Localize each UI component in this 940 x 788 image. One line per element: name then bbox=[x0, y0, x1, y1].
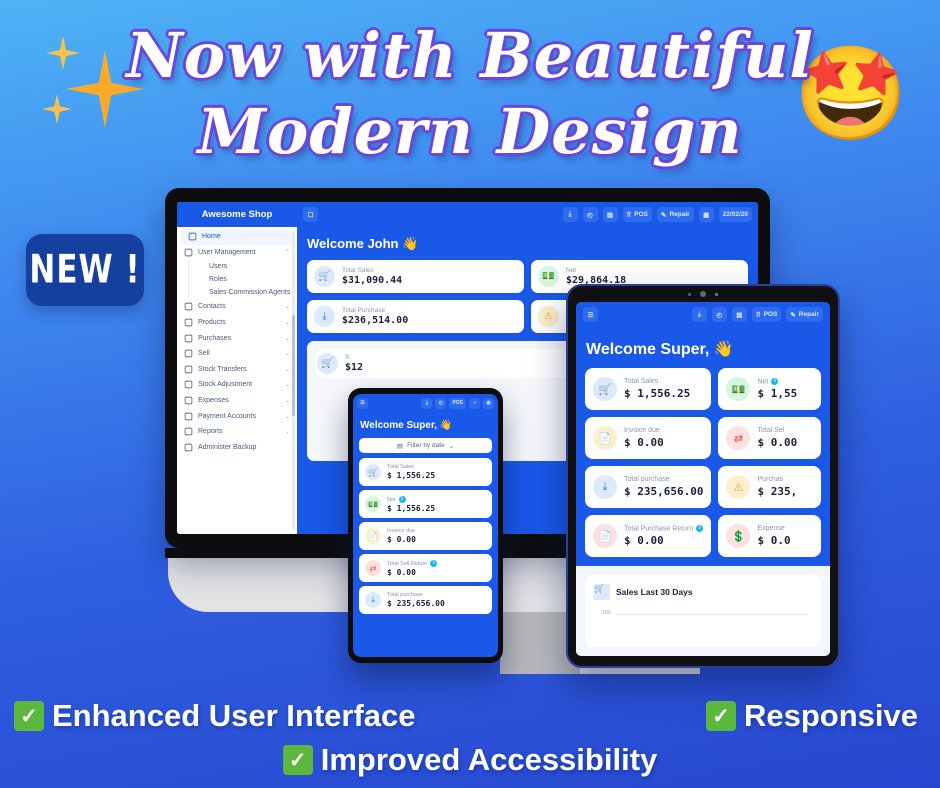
pos-button[interactable]: ⠿ POS bbox=[752, 307, 782, 322]
feature-list: ✓ Enhanced User Interface ✓ Responsive ✓… bbox=[0, 698, 940, 778]
card-label: Total Sales bbox=[342, 267, 402, 274]
card-label: S bbox=[345, 354, 363, 361]
stat-card[interactable]: ⤓Total purchase$ 235,656.00 bbox=[359, 586, 492, 614]
chevron-down-icon: ⌄ bbox=[285, 397, 290, 404]
bell-icon[interactable]: ◑ bbox=[469, 398, 480, 409]
money-icon: 💵 bbox=[538, 266, 559, 287]
pos-button[interactable]: ⠿ POS bbox=[623, 207, 653, 222]
info-icon[interactable]: i bbox=[399, 496, 406, 503]
card-value: $ 1,556.25 bbox=[387, 504, 435, 513]
stat-card[interactable]: 🛒Total Sales$ 1,556.25 bbox=[359, 458, 492, 486]
user-avatar-icon[interactable]: ◍ bbox=[483, 398, 494, 409]
sidebar-item-sell[interactable]: Sell⌄ bbox=[177, 346, 297, 362]
sales-chart-card: 🛒 Sales Last 30 Days 10k bbox=[585, 575, 821, 647]
stat-card[interactable]: ⤓Total Purchase$236,514.00 bbox=[307, 300, 524, 333]
new-badge: NEW ! bbox=[26, 234, 144, 306]
cart-icon: 🛒 bbox=[594, 584, 610, 600]
stat-icon: 📄 bbox=[593, 524, 617, 548]
chevron-up-icon: ⌃ bbox=[285, 249, 290, 256]
card-value: $ 0.00 bbox=[387, 568, 437, 577]
home-icon bbox=[188, 232, 197, 241]
feature-label: Enhanced User Interface bbox=[52, 698, 416, 734]
chevron-down-icon: ⌄ bbox=[285, 319, 290, 326]
tablet-welcome-heading: Welcome Super, 👋 bbox=[576, 327, 830, 368]
sidebar-item-payment-accounts[interactable]: Payment Accounts⌄ bbox=[177, 408, 297, 424]
star-struck-emoji-icon: 🤩 bbox=[793, 48, 908, 140]
card-label: Total Purchase bbox=[342, 307, 408, 314]
repair-button[interactable]: ✎ Repair bbox=[786, 307, 823, 322]
card-label: Invoice due bbox=[387, 528, 416, 534]
sidebar-item-reports[interactable]: Reports⌄ bbox=[177, 424, 297, 440]
tablet-camera-dots bbox=[568, 291, 838, 297]
sidebar-item-label: Stock Transfers bbox=[198, 366, 247, 373]
sidebar-item-contacts[interactable]: Contacts⌄ bbox=[177, 299, 297, 315]
sales-chart-title: Sales Last 30 Days bbox=[616, 587, 693, 597]
card-label: Net bbox=[566, 267, 626, 274]
sparkles-icon bbox=[28, 32, 158, 152]
sidebar-item-label: User Management bbox=[198, 249, 256, 256]
sidebar-item-label: Purchases bbox=[198, 335, 231, 342]
stat-card[interactable]: 💲Expense$ 0.0 bbox=[718, 515, 821, 557]
desktop-toolbar: ☐ ⤓ ◴ ▤ ⠿ POS ✎ Repair ▣ 22/02/20 bbox=[297, 202, 758, 227]
card-value: $31,090.44 bbox=[342, 275, 402, 286]
sidebar-subitem-roles[interactable]: Roles bbox=[188, 273, 297, 286]
card-value: $ 0.00 bbox=[624, 436, 664, 449]
card-label: Total Sell Returni bbox=[387, 560, 437, 567]
tablet-toolbar: ☰ ⤓ ◴ ▤ ⠿ POS ✎ Repair bbox=[576, 302, 830, 327]
clock-icon[interactable]: ◴ bbox=[435, 398, 446, 409]
sidebar-item-label: Products bbox=[198, 319, 226, 326]
purchase-icon bbox=[184, 334, 193, 343]
card-label: Total Sales bbox=[624, 378, 690, 385]
info-icon[interactable]: i bbox=[771, 378, 778, 385]
chevron-down-icon: ⌄ bbox=[285, 335, 290, 342]
calculator-icon[interactable]: ▤ bbox=[603, 207, 618, 222]
stat-card[interactable]: 💵Neti$ 1,556.25 bbox=[359, 490, 492, 518]
camera-sensor-icon bbox=[715, 293, 718, 296]
card-label: Invoice due bbox=[624, 427, 664, 434]
sidebar-item-label: Home bbox=[202, 233, 221, 240]
phone-welcome-heading: Welcome Super, 👋 bbox=[353, 412, 498, 438]
chevron-down-icon: ⌄ bbox=[285, 428, 290, 435]
calculator-icon[interactable]: ▤ bbox=[732, 307, 747, 322]
clock-icon[interactable]: ◴ bbox=[583, 207, 598, 222]
stat-card[interactable]: 📄Invoice due$ 0.00 bbox=[359, 522, 492, 550]
card-label: Total Sel bbox=[757, 427, 797, 434]
download-icon[interactable]: ⤓ bbox=[421, 398, 432, 409]
chevron-down-icon: ⌄ bbox=[285, 413, 290, 420]
check-icon: ✓ bbox=[706, 701, 736, 731]
card-value: $ 0.00 bbox=[757, 436, 797, 449]
stat-icon: 🛒 bbox=[593, 377, 617, 401]
desktop-brand: Awesome Shop bbox=[177, 202, 297, 227]
pos-label: POS bbox=[764, 311, 778, 318]
check-icon: ✓ bbox=[14, 701, 44, 731]
desktop-welcome-heading: Welcome John 👋 bbox=[297, 227, 758, 260]
sidebar-subitem-sales-commission-agents[interactable]: Sales Commission Agents bbox=[188, 286, 297, 299]
desktop-menu[interactable]: HomeUser Management⌃UsersRolesSales Comm… bbox=[177, 227, 297, 534]
card-value: $ 0.0 bbox=[757, 534, 790, 547]
stat-icon: ⤓ bbox=[365, 592, 381, 608]
calendar-icon: ▤ bbox=[397, 442, 403, 450]
filter-by-date-button[interactable]: ▤ Filter by date ⌄ bbox=[359, 438, 492, 453]
sidebar-item-products[interactable]: Products⌄ bbox=[177, 315, 297, 331]
card-value: $ 235,656.00 bbox=[624, 485, 703, 498]
stat-icon: ⚠ bbox=[726, 475, 750, 499]
hamburger-menu-icon[interactable]: ☰ bbox=[357, 398, 368, 409]
card-value: $ 0.00 bbox=[387, 535, 416, 544]
card-value: $236,514.00 bbox=[342, 315, 408, 326]
transfer-icon bbox=[184, 365, 193, 374]
sidebar-item-label: Reports bbox=[198, 428, 223, 435]
sidebar-item-purchases[interactable]: Purchases⌄ bbox=[177, 330, 297, 346]
repair-button[interactable]: ✎ Repair bbox=[657, 207, 694, 222]
card-label: Total Purchase Returni bbox=[624, 525, 703, 532]
stat-icon: 💵 bbox=[365, 496, 381, 512]
stat-icon: 🛒 bbox=[365, 464, 381, 480]
card-label: Total Sales bbox=[387, 464, 435, 470]
stat-card[interactable]: 📄Total Purchase Returni$ 0.00 bbox=[585, 515, 711, 557]
camera-dot-left-icon bbox=[688, 293, 691, 296]
card-value: $ 235,656.00 bbox=[387, 599, 445, 608]
tablet-device: ☰ ⤓ ◴ ▤ ⠿ POS ✎ Repair Welcome Super, 👋 … bbox=[566, 284, 840, 668]
grid-icon: ⠿ bbox=[756, 311, 761, 319]
pos-button[interactable]: POS bbox=[449, 398, 466, 409]
camera-lens-icon bbox=[700, 291, 706, 297]
sparkle-large-icon bbox=[66, 50, 144, 128]
grid-icon: ⠿ bbox=[627, 211, 632, 219]
feature-label: Responsive bbox=[744, 698, 918, 734]
sidebar-item-administer-backup[interactable]: Administer Backup bbox=[177, 440, 297, 456]
check-icon: ✓ bbox=[283, 745, 313, 775]
feature-item: ✓ Responsive bbox=[706, 698, 918, 734]
sidebar-subitem-users[interactable]: Users bbox=[188, 260, 297, 273]
card-value: $ 0.00 bbox=[624, 534, 703, 547]
card-label: Purchas bbox=[757, 476, 797, 483]
repair-label: Repair bbox=[799, 311, 819, 318]
stat-icon: 💵 bbox=[726, 377, 750, 401]
chevron-down-icon: ⌄ bbox=[285, 381, 290, 388]
sidebar-item-label: Payment Accounts bbox=[198, 413, 256, 420]
stat-card[interactable]: 🛒Total Sales$ 1,556.25 bbox=[585, 368, 711, 410]
download-icon[interactable]: ⤓ bbox=[563, 207, 578, 222]
sidebar-item-stock-transfers[interactable]: Stock Transfers⌄ bbox=[177, 362, 297, 378]
chevron-down-icon: ⌄ bbox=[449, 442, 454, 450]
sidebar-item-label: Contacts bbox=[198, 303, 226, 310]
wrench-icon: ✎ bbox=[661, 211, 666, 219]
users-icon bbox=[184, 248, 193, 257]
info-icon[interactable]: i bbox=[430, 560, 437, 567]
info-icon[interactable]: i bbox=[696, 525, 703, 532]
card-label: Total purchase bbox=[624, 476, 703, 483]
desktop-sidebar: Awesome Shop HomeUser Management⌃UsersRo… bbox=[177, 202, 297, 534]
sidebar-item-home[interactable]: Home bbox=[181, 229, 293, 245]
sales-chart-plot: 10k bbox=[594, 608, 812, 638]
filter-label: Filter by date bbox=[407, 442, 445, 449]
stat-icon: ⇄ bbox=[365, 560, 381, 576]
card-label: Total purchase bbox=[387, 592, 445, 598]
stat-icon: 💲 bbox=[726, 524, 750, 548]
stat-card[interactable]: 📄Invoice due$ 0.00 bbox=[585, 417, 711, 459]
sidebar-item-label: Administer Backup bbox=[198, 444, 256, 451]
stat-icon: 📄 bbox=[365, 528, 381, 544]
stat-card[interactable]: ⇄Total Sel$ 0.00 bbox=[718, 417, 821, 459]
stat-card[interactable]: ⚠Purchas$ 235, bbox=[718, 466, 821, 508]
stat-card[interactable]: ⇄Total Sell Returni$ 0.00 bbox=[359, 554, 492, 582]
repair-label: Repair bbox=[669, 211, 689, 218]
payment-icon bbox=[184, 412, 193, 421]
reports-icon bbox=[184, 427, 193, 436]
chart-y-tick: 10k bbox=[602, 610, 611, 616]
phone-device: ☰ ⤓ ◴ POS ◑ ◍ Welcome Super, 👋 ▤ Filter … bbox=[348, 388, 503, 663]
products-icon bbox=[184, 318, 193, 327]
card-label: Neti bbox=[387, 496, 435, 503]
sales-chart-header: 🛒 Sales Last 30 Days bbox=[594, 584, 812, 600]
warning-icon: ⚠ bbox=[538, 306, 559, 327]
sell-icon bbox=[184, 349, 193, 358]
stat-icon: ⇄ bbox=[726, 426, 750, 450]
sidebar-item-label: Expenses bbox=[198, 397, 229, 404]
cart-icon: 🛒 bbox=[317, 353, 338, 374]
sidebar-item-label: Sell bbox=[198, 350, 210, 357]
adjustment-icon bbox=[184, 380, 193, 389]
stat-card[interactable]: 🛒Total Sales$31,090.44 bbox=[307, 260, 524, 293]
sidebar-item-expenses[interactable]: Expenses⌄ bbox=[177, 393, 297, 409]
tablet-stat-cards: 🛒Total Sales$ 1,556.25💵Neti$ 1,55📄Invoic… bbox=[576, 368, 830, 557]
hamburger-menu-icon[interactable]: ☰ bbox=[583, 307, 598, 322]
card-value: $ 1,556.25 bbox=[387, 471, 435, 480]
sparkle-small-top-icon bbox=[46, 36, 80, 70]
phone-toolbar: ☰ ⤓ ◴ POS ◑ ◍ bbox=[353, 394, 498, 412]
card-value: $ 1,55 bbox=[757, 387, 797, 400]
sidebar-toggle-icon[interactable]: ☐ bbox=[303, 207, 318, 222]
sidebar-item-stock-adjustment[interactable]: Stock Adjustment⌄ bbox=[177, 377, 297, 393]
sidebar-scrollbar[interactable] bbox=[292, 231, 295, 530]
stat-icon: 📄 bbox=[593, 426, 617, 450]
stat-card[interactable]: ⤓Total purchase$ 235,656.00 bbox=[585, 466, 711, 508]
clock-icon[interactable]: ◴ bbox=[712, 307, 727, 322]
phone-screen: ☰ ⤓ ◴ POS ◑ ◍ Welcome Super, 👋 ▤ Filter … bbox=[353, 394, 498, 657]
date-display[interactable]: 22/02/20 bbox=[719, 207, 752, 222]
screen-icon[interactable]: ▣ bbox=[699, 207, 714, 222]
chevron-down-icon: ⌄ bbox=[285, 366, 290, 373]
download-icon: ⤓ bbox=[314, 306, 335, 327]
feature-label: Improved Accessibility bbox=[321, 742, 658, 778]
download-icon[interactable]: ⤓ bbox=[692, 307, 707, 322]
stat-icon: ⤓ bbox=[593, 475, 617, 499]
chevron-down-icon: ⌄ bbox=[285, 350, 290, 357]
feature-item: ✓ Improved Accessibility bbox=[283, 742, 658, 778]
card-value: $12 bbox=[345, 362, 363, 373]
new-badge-label: NEW ! bbox=[29, 248, 140, 293]
chevron-down-icon: ⌄ bbox=[285, 303, 290, 310]
feature-item: ✓ Enhanced User Interface bbox=[14, 698, 416, 734]
backup-icon bbox=[184, 443, 193, 452]
wrench-icon: ✎ bbox=[790, 311, 795, 319]
phone-stat-cards: 🛒Total Sales$ 1,556.25💵Neti$ 1,556.25📄In… bbox=[353, 458, 498, 614]
stat-card[interactable]: 💵Neti$ 1,55 bbox=[718, 368, 821, 410]
tablet-screen: ☰ ⤓ ◴ ▤ ⠿ POS ✎ Repair Welcome Super, 👋 … bbox=[576, 302, 830, 656]
sidebar-item-user-management[interactable]: User Management⌃ bbox=[177, 245, 297, 261]
sparkle-small-bottom-icon bbox=[42, 94, 72, 124]
contacts-icon bbox=[184, 302, 193, 311]
tablet-bottom-panel: 🛒 Sales Last 30 Days 10k bbox=[576, 566, 830, 656]
card-label: Expense bbox=[757, 525, 790, 532]
card-label: Neti bbox=[757, 378, 797, 385]
chart-gridline bbox=[616, 614, 808, 615]
expenses-icon bbox=[184, 396, 193, 405]
cart-icon: 🛒 bbox=[314, 266, 335, 287]
sidebar-item-label: Stock Adjustment bbox=[198, 381, 252, 388]
card-value: $ 235, bbox=[757, 485, 797, 498]
card-value: $ 1,556.25 bbox=[624, 387, 690, 400]
pos-label: POS bbox=[634, 211, 648, 218]
